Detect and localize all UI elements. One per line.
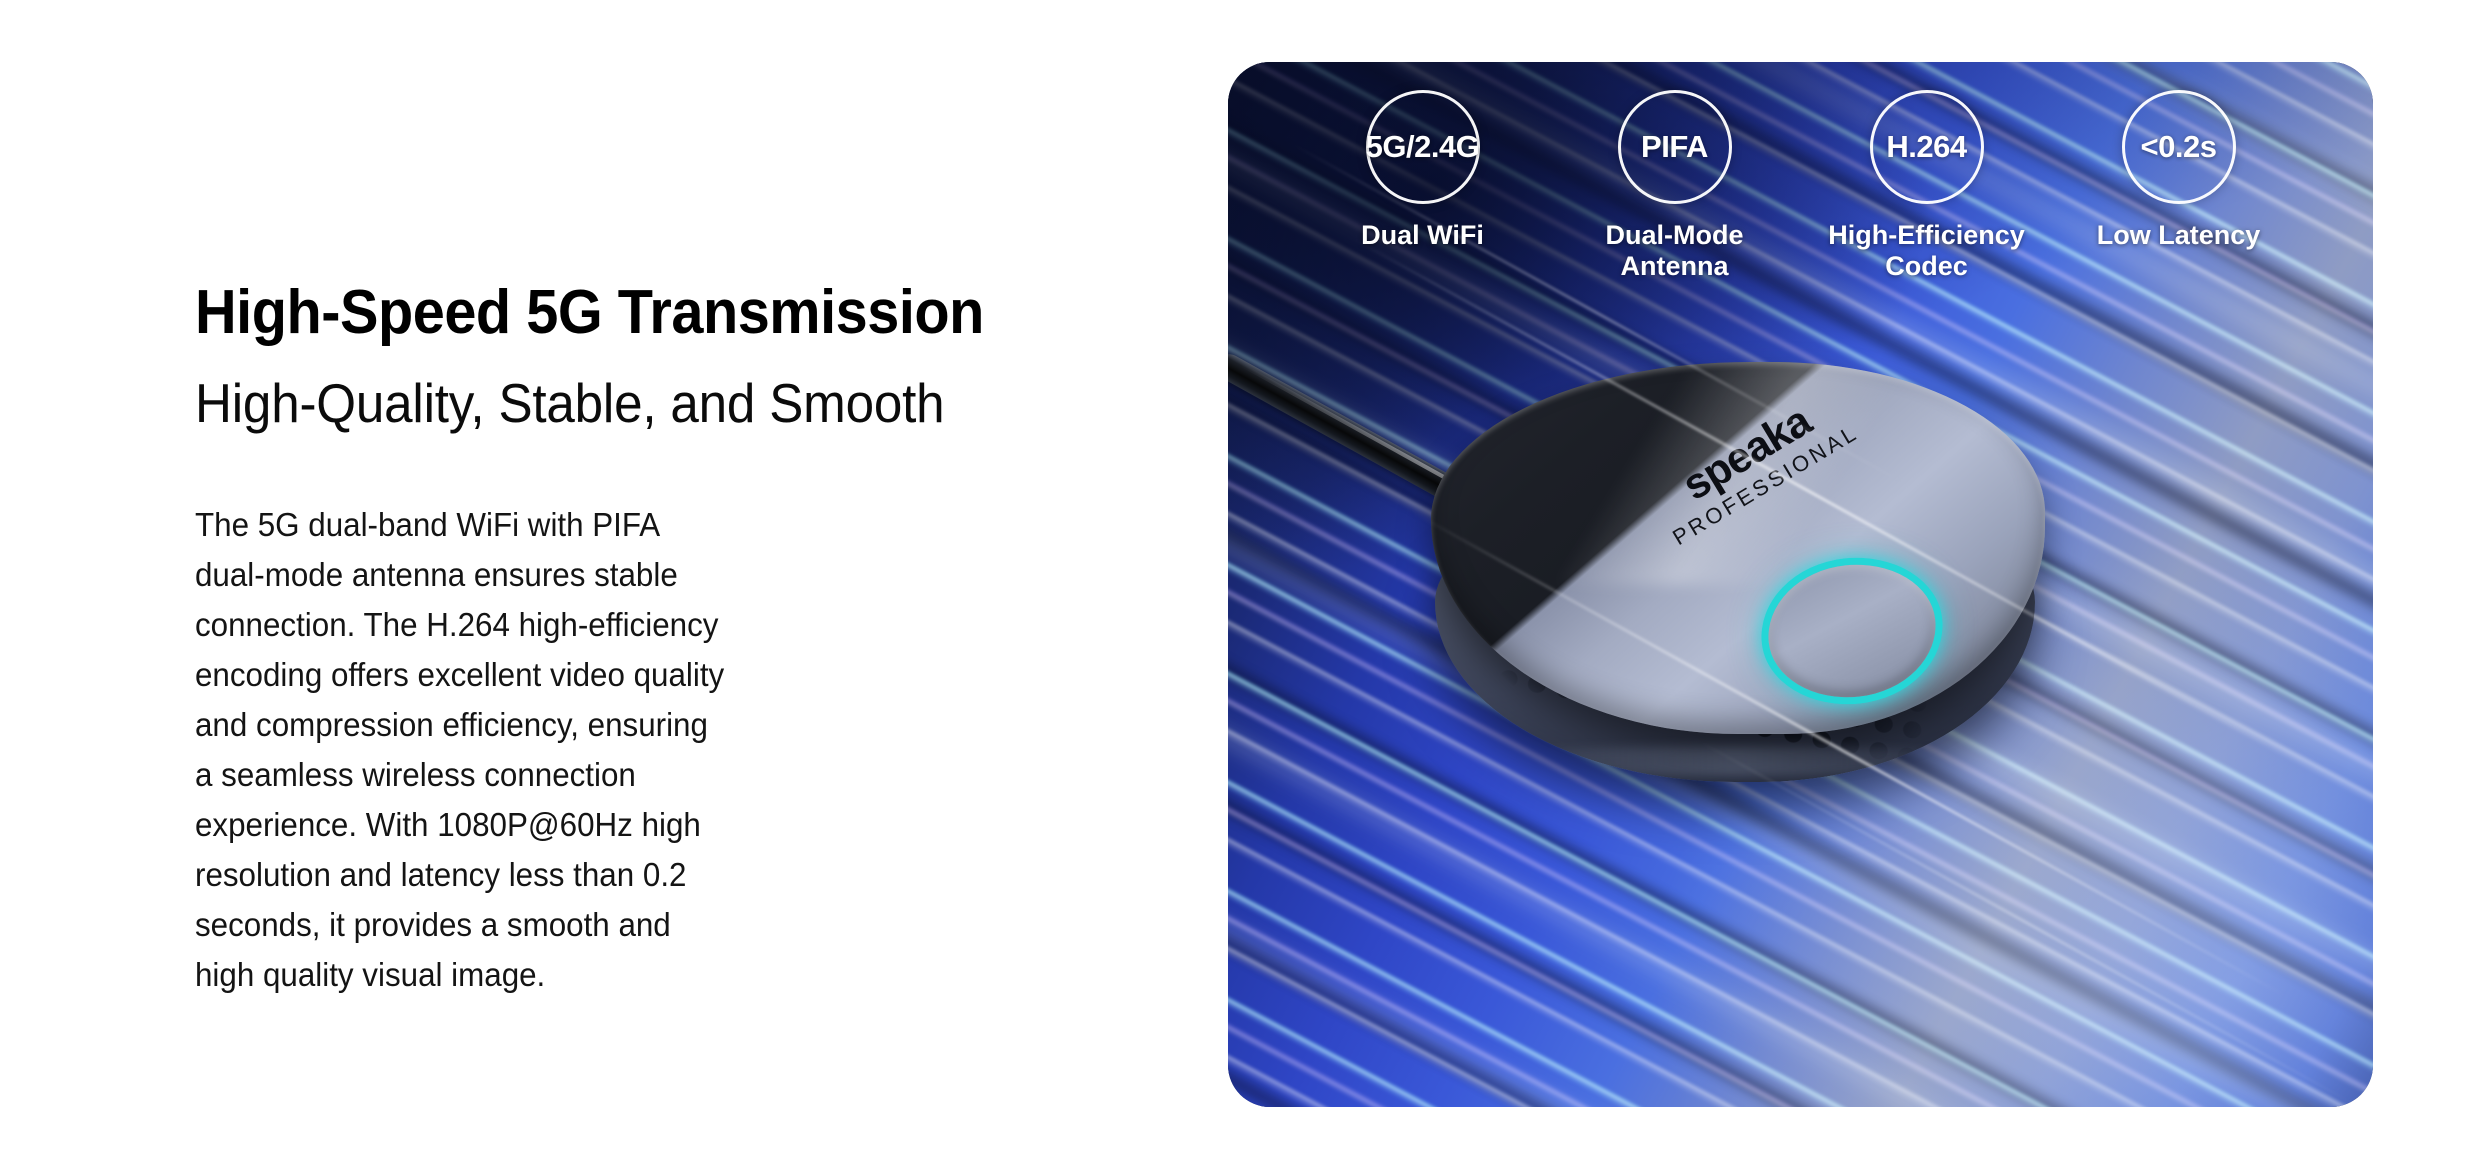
badge-label: Dual WiFi: [1361, 220, 1484, 251]
page-subtitle: High-Quality, Stable, and Smooth: [195, 375, 944, 433]
text-column: High-Speed 5G Transmission High-Quality,…: [195, 0, 1095, 1163]
badge-label: Dual-Mode Antenna: [1606, 220, 1744, 283]
device-power-button: [1754, 549, 1950, 713]
badge-value: PIFA: [1641, 129, 1708, 165]
product-device: speaka PROFESSIONAL: [1423, 362, 2058, 832]
device-brand-logo: speaka PROFESSIONAL: [1645, 381, 1862, 549]
body-paragraph: The 5G dual-band WiFi with PIFA dual-mod…: [195, 500, 727, 1000]
badge-circle-icon: <0.2s: [2122, 90, 2236, 204]
badge-value: 5G/2.4G: [1366, 129, 1480, 165]
product-image-panel: 5G/2.4G Dual WiFi PIFA Dual-Mode Antenna…: [1228, 62, 2373, 1107]
badge-circle-icon: H.264: [1870, 90, 1984, 204]
feature-badge-row: 5G/2.4G Dual WiFi PIFA Dual-Mode Antenna…: [1228, 90, 2373, 283]
shell-gloss-highlight: [1431, 362, 2045, 585]
badge-label: Low Latency: [2097, 220, 2261, 251]
page-title: High-Speed 5G Transmission: [195, 280, 984, 345]
badge-label: High-Efficiency Codec: [1828, 220, 2025, 283]
feature-badge-dual-wifi: 5G/2.4G Dual WiFi: [1323, 90, 1523, 283]
feature-badge-low-latency: <0.2s Low Latency: [2079, 90, 2279, 283]
brand-subtitle: PROFESSIONAL: [1669, 421, 1862, 549]
feature-badge-codec: H.264 High-Efficiency Codec: [1827, 90, 2027, 283]
badge-value: H.264: [1886, 129, 1966, 165]
badge-circle-icon: 5G/2.4G: [1366, 90, 1480, 204]
badge-circle-icon: PIFA: [1618, 90, 1732, 204]
feature-badge-dual-mode-antenna: PIFA Dual-Mode Antenna: [1575, 90, 1775, 283]
brand-name: speaka: [1645, 381, 1849, 527]
badge-value: <0.2s: [2141, 129, 2217, 165]
